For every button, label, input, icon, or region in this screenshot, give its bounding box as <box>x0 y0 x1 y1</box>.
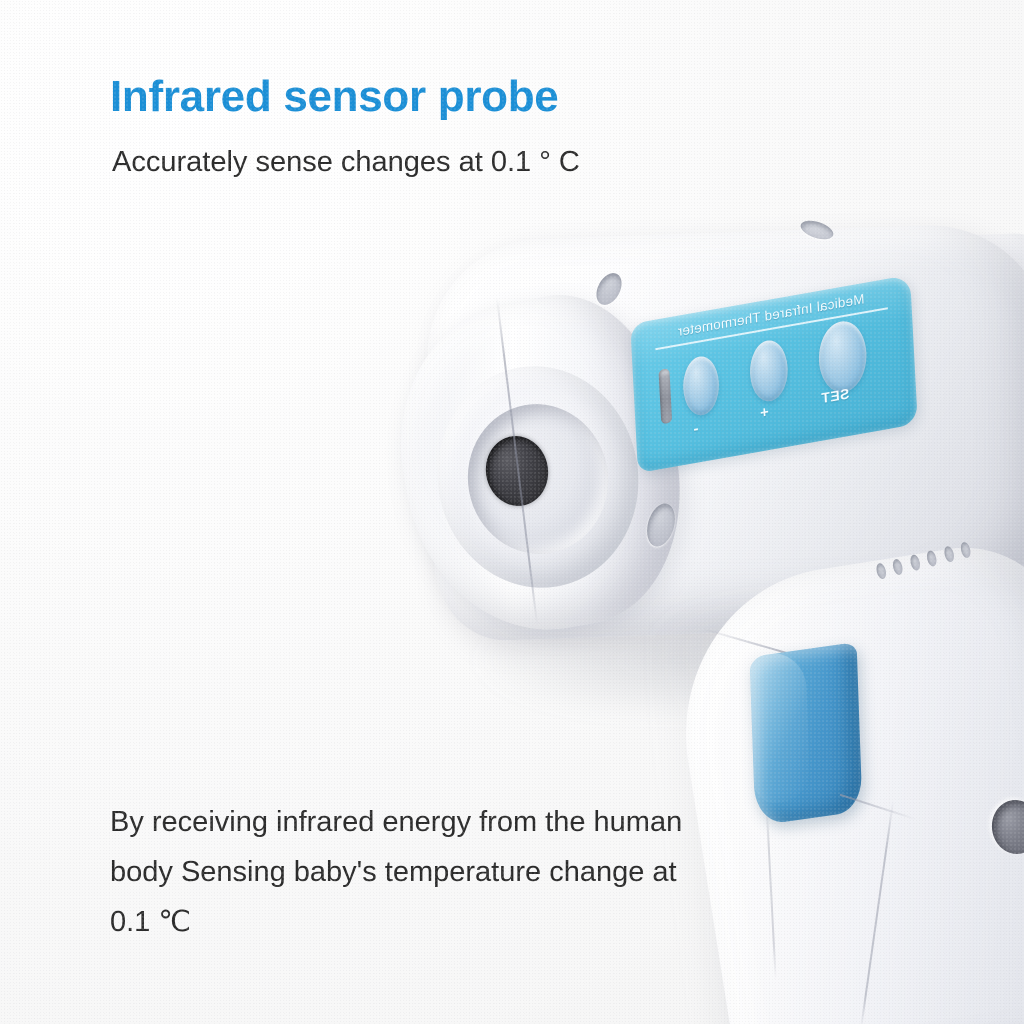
set-button-label: SET <box>821 385 850 406</box>
display-slot <box>658 368 672 424</box>
set-button[interactable] <box>817 317 868 396</box>
page-title: Infrared sensor probe <box>110 72 558 122</box>
measurement-trigger[interactable] <box>750 642 863 826</box>
decrease-button-label: - <box>693 420 699 438</box>
vent-dot <box>926 550 939 568</box>
product-feature-image: Medical Infrared Thermometer - + SET Inf… <box>0 0 1024 1024</box>
vent-dot <box>892 558 905 576</box>
increase-button[interactable] <box>749 337 790 404</box>
description-text: By receiving infrared energy from the hu… <box>110 798 710 948</box>
vent-dot <box>960 541 973 559</box>
subtitle-text: Accurately sense changes at 0.1 ° C <box>112 144 632 181</box>
vent-dot <box>943 545 956 563</box>
decrease-button[interactable] <box>682 354 721 419</box>
increase-button-label: + <box>760 403 770 422</box>
vent-dot <box>909 554 922 572</box>
